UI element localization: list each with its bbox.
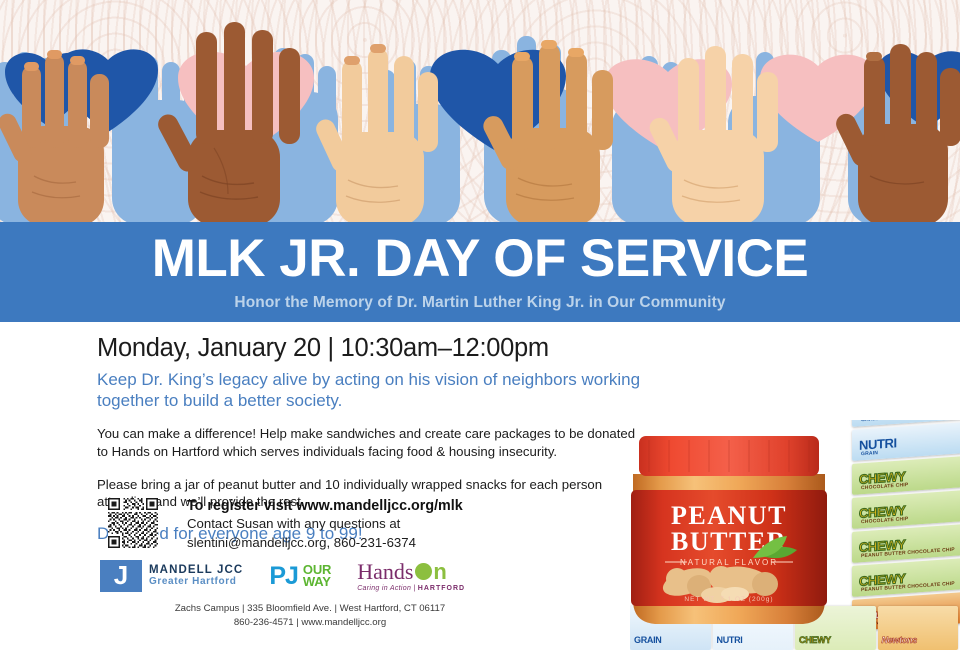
jar-net-weight: NET WT. 7.1 OZ (200g)	[684, 596, 773, 603]
logo-pj-our-way: PJ OUR WAY	[269, 564, 331, 589]
register-url-line[interactable]: To register visit www.mandelljcc.org/mlk	[187, 498, 463, 514]
partner-logos: J MANDELL JCC Greater Hartford PJ OUR WA…	[100, 560, 465, 592]
snack-box: CHEWY CHOCOLATE CHIP	[852, 456, 960, 495]
hands-on-n-letter: n	[433, 561, 446, 583]
footer-line-2: 860-236-4571 | www.mandelljcc.org	[100, 616, 520, 630]
event-date-time: Monday, January 20 | 10:30am–12:00pm	[97, 334, 697, 363]
event-tagline: Keep Dr. King’s legacy alive by acting o…	[97, 370, 657, 411]
jcc-wordmark: MANDELL JCC Greater Hartford	[149, 564, 243, 587]
logo-mandell-jcc: J MANDELL JCC Greater Hartford	[100, 560, 243, 592]
hands-on-hartford-text: HARTFORD	[418, 585, 465, 592]
contact-line-1: Contact Susan with any questions at	[187, 516, 463, 533]
jcc-mark-icon: J	[100, 560, 142, 592]
contact-line-2[interactable]: slentini@mandelljcc.org, 860-231-6374	[187, 535, 463, 552]
event-description-paragraph-1: You can make a difference! Help make san…	[97, 425, 642, 460]
jar-label-line-1: PEANUT	[671, 501, 787, 530]
hero-illustration	[0, 0, 960, 222]
snack-box-bottom: Newtons	[878, 606, 959, 650]
logo-hands-on-hartford: Hands n Caring in Action | HARTFORD	[357, 561, 465, 592]
snack-box: CHEWY CHOCOLATE CHIP	[852, 490, 960, 529]
pj-wordmark: OUR WAY	[303, 564, 331, 589]
footer-line-1: Zachs Campus | 335 Bloomfield Ave. | Wes…	[100, 602, 520, 616]
snack-name: Newtons	[882, 636, 917, 645]
jcc-name: MANDELL JCC	[149, 564, 243, 576]
jcc-letter: J	[114, 562, 128, 588]
snack-boxes-column: NUTRI GRAIN NUTRI GRAIN CHEWY CHOCOLATE …	[852, 420, 960, 630]
snack-box: CHEWY PEANUT BUTTER CHOCOLATE CHIP	[852, 524, 960, 563]
flyer-page: MLK JR. DAY OF SERVICE Honor the Memory …	[0, 0, 960, 650]
hands-on-green-circle	[415, 563, 432, 580]
jar-flavor: NATURAL FLAVOR	[680, 558, 778, 567]
hands-on-circle-icon: n	[415, 561, 446, 583]
hands-on-divider: |	[413, 585, 415, 592]
snack-name: NUTRI	[717, 636, 743, 645]
hands-on-caring-text: Caring in Action	[357, 585, 411, 592]
snack-box: CHEWY PEANUT BUTTER CHOCOLATE CHIP	[852, 558, 960, 597]
registration-text: To register visit www.mandelljcc.org/mlk…	[187, 498, 463, 552]
title-banner: MLK JR. DAY OF SERVICE Honor the Memory …	[0, 222, 960, 322]
pj-mark: PJ	[269, 564, 298, 589]
pj-line-2: WAY	[303, 576, 331, 588]
qr-code-icon[interactable]	[97, 498, 169, 548]
hands-on-subtitle: Caring in Action | HARTFORD	[357, 585, 465, 592]
jcc-tagline: Greater Hartford	[149, 577, 243, 588]
hands-on-hands-word: Hands	[357, 561, 413, 583]
snack-sub: GRAIN	[861, 450, 878, 457]
snack-box: NUTRI GRAIN	[852, 422, 960, 461]
banner-subtitle: Honor the Memory of Dr. Martin Luther Ki…	[234, 294, 725, 312]
peanut-butter-jar: PEANUT BUTTER NATURAL FLAVOR NET WT. 7.1…	[630, 434, 833, 632]
footer-address: Zachs Campus | 335 Bloomfield Ave. | Wes…	[100, 602, 520, 630]
snack-sub: GRAIN	[861, 420, 878, 423]
banner-title: MLK JR. DAY OF SERVICE	[152, 232, 809, 285]
snack-name: CHEWY	[799, 636, 831, 645]
snack-name: GRAIN	[634, 636, 662, 645]
registration-block: To register visit www.mandelljcc.org/mlk…	[97, 498, 463, 552]
product-imagery: NUTRI GRAIN NUTRI GRAIN CHEWY CHOCOLATE …	[630, 420, 960, 650]
raised-hands-artwork	[0, 0, 960, 222]
